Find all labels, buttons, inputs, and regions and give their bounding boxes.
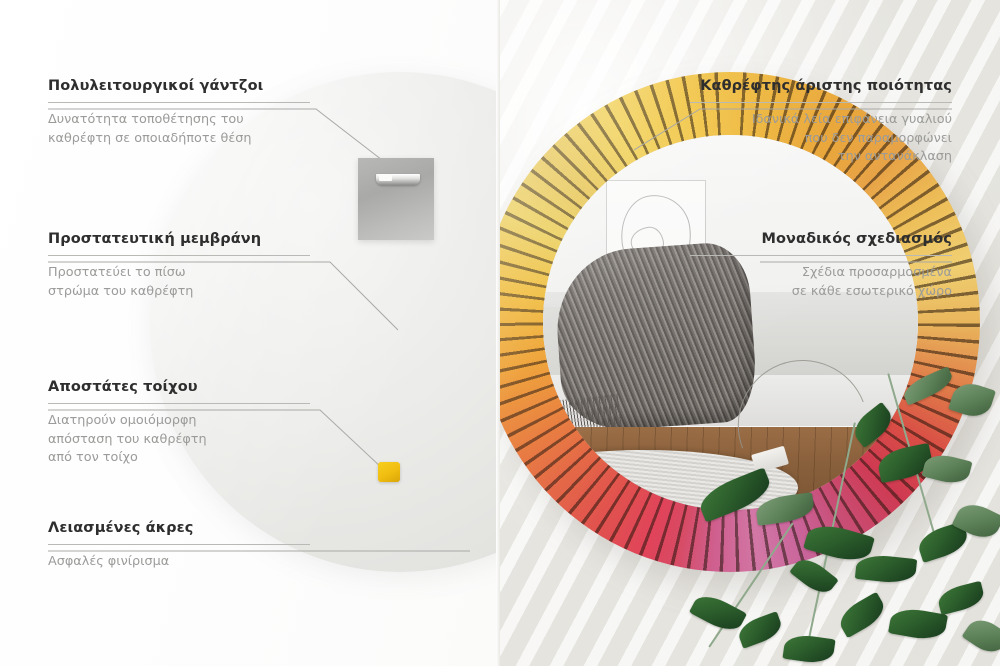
plant-leaf (789, 553, 838, 599)
callout-wall-spacers: Αποστάτες τοίχου Διατηρούν ομοιόμορφη απ… (48, 379, 310, 468)
infographic-canvas: Πολυλειτουργικοί γάντζοι Δυνατότητα τοπο… (0, 0, 1000, 666)
callout-rule (48, 255, 310, 256)
callout-body: Δυνατότητα τοποθέτησης του καθρέφτη σε ο… (48, 111, 310, 148)
panel-divider (496, 0, 500, 666)
callout-title: Λειασμένες άκρες (48, 520, 310, 536)
plant-leaf (936, 581, 986, 615)
callout-title: Αποστάτες τοίχου (48, 379, 310, 395)
hook-part (358, 158, 434, 240)
plant-leaf (754, 492, 815, 526)
callout-body: Σχέδια προσαρμοσμένα σε κάθε εσωτερικό χ… (690, 264, 952, 301)
plant-leaf (782, 633, 835, 666)
callout-rule (48, 544, 310, 545)
plant-foliage (680, 360, 1000, 666)
callout-rule (48, 102, 310, 103)
callout-body: Διατηρούν ομοιόμορφη απόσταση του καθρέφ… (48, 412, 310, 468)
callout-body: Ασφαλές φινίρισμα (48, 553, 310, 572)
callout-title: Προστατευτική μεμβράνη (48, 231, 310, 247)
plant-leaf (689, 589, 747, 636)
plant-leaf (962, 613, 1000, 659)
callout-title: Πολυλειτουργικοί γάντζοι (48, 78, 310, 94)
spacer-part (378, 462, 400, 482)
callout-rule (690, 102, 952, 103)
callout-body: Προστατεύει το πίσω στρώμα του καθρέφτη (48, 264, 310, 301)
plant-leaf (888, 605, 948, 642)
plant-leaf (948, 379, 996, 422)
callout-title: Μοναδικός σχεδιασμός (690, 231, 952, 247)
callout-title: Καθρέφτης άριστης ποιότητας (690, 78, 952, 94)
callout-rule (690, 255, 952, 256)
plant-leaf (900, 366, 956, 405)
callout-hooks: Πολυλειτουργικοί γάντζοι Δυνατότητα τοπο… (48, 78, 310, 148)
callout-smooth-edges: Λειασμένες άκρες Ασφαλές φινίρισμα (48, 520, 310, 572)
callout-unique-design: Μοναδικός σχεδιασμός Σχέδια προσαρμοσμέν… (690, 231, 952, 301)
callout-protective-film: Προστατευτική μεμβράνη Προστατεύει το πί… (48, 231, 310, 301)
callout-top-quality-mirror: Καθρέφτης άριστης ποιότητας Ιδανικά λεία… (690, 78, 952, 167)
plant-leaf (835, 592, 890, 639)
callout-rule (48, 403, 310, 404)
hook-bracket-icon (376, 174, 420, 185)
callout-body: Ιδανικά λεία επιφάνεια γυαλιού που δεν π… (690, 111, 952, 167)
plant-leaf (855, 553, 917, 585)
plant-leaf (848, 402, 897, 448)
